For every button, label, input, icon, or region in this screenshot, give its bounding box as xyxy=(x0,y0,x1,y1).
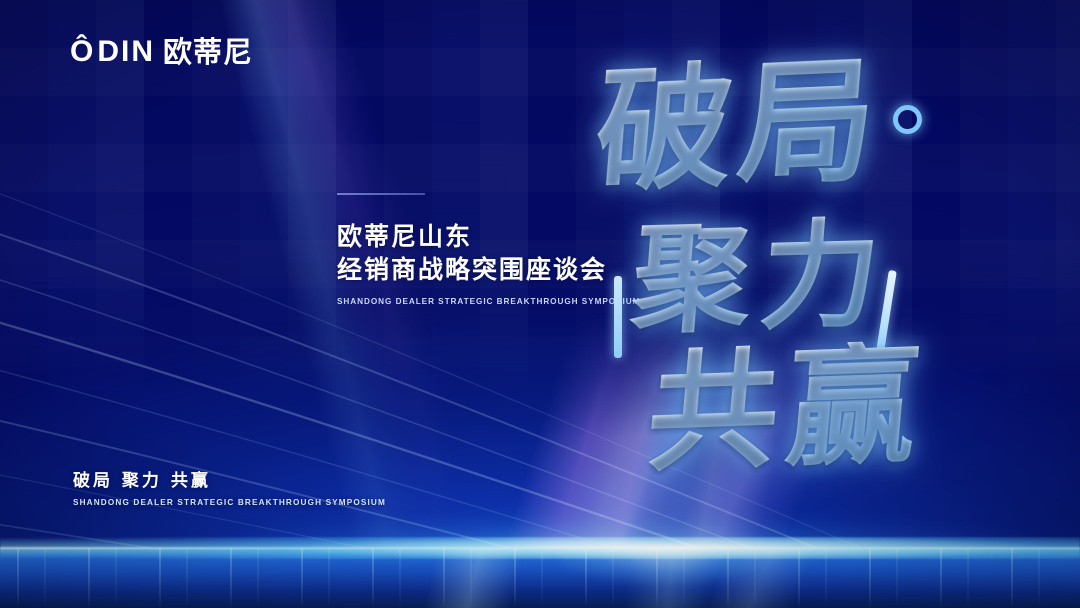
title-line-2: 经销商战略突围座谈会 xyxy=(337,254,607,287)
title-block: 欧蒂尼山东 经销商战略突围座谈会 SHANDONG DEALER STRATEG… xyxy=(337,193,607,306)
hero-slogan-line-1: 破局 xyxy=(591,52,887,200)
hero-slogan-line-3: 共赢 xyxy=(643,339,931,479)
odin-logo: Ô DIN 欧蒂尼 xyxy=(70,37,253,67)
horizon-beam xyxy=(0,537,1080,559)
logo-wordmark-cn: 欧蒂尼 xyxy=(163,38,253,67)
title-line-1: 欧蒂尼山东 xyxy=(337,221,607,254)
title-subtitle-en: SHANDONG DEALER STRATEGIC BREAKTHROUGH S… xyxy=(337,297,607,306)
hero-slogan-line-2: 聚力 xyxy=(628,215,894,340)
hero-slogan: 破局 聚力 共赢 xyxy=(575,48,995,468)
title-divider-rule xyxy=(337,193,425,195)
bottom-slogan-en: SHANDONG DEALER STRATEGIC BREAKTHROUGH S… xyxy=(73,498,386,507)
circle-accent-icon xyxy=(893,105,922,134)
logo-mark-letter: Ô xyxy=(70,37,95,67)
bottom-slogan-lockup: 破局 聚力 共赢 SHANDONG DEALER STRATEGIC BREAK… xyxy=(73,466,386,507)
logo-wordmark: DIN xyxy=(97,37,155,67)
event-banner: Ô DIN 欧蒂尼 欧蒂尼山东 经销商战略突围座谈会 SHANDONG DEAL… xyxy=(0,0,1080,608)
bottom-slogan-cn: 破局 聚力 共赢 xyxy=(73,466,386,491)
left-bar-accent-icon xyxy=(614,276,622,358)
